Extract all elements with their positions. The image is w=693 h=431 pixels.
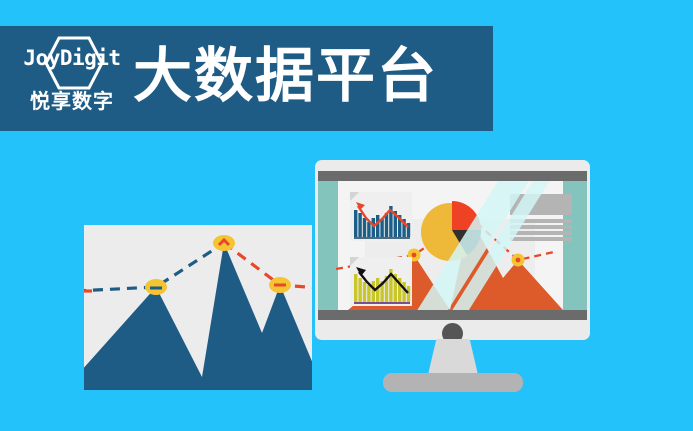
pie-chart [421, 201, 483, 263]
olive-bar-chart-svg [350, 257, 412, 306]
trend-arrow-icon [356, 202, 365, 210]
logo-wordmark: JoyDigit [16, 48, 128, 69]
page-title: 大数据平台 [133, 44, 438, 109]
olive-bar-chart-card [350, 257, 412, 306]
monitor-bottom-bezel-bar [318, 310, 587, 320]
mountain-chart-svg [84, 225, 312, 390]
text-block-panel [510, 194, 572, 238]
monitor-top-bezel-bar [318, 171, 587, 181]
monitor-stand-base [383, 373, 523, 392]
pie-slice-b [452, 201, 481, 230]
data-marker-core [412, 253, 417, 258]
card-fold-corner [350, 257, 359, 266]
doc-text-line [510, 231, 572, 235]
mountain-line-chart [84, 225, 312, 390]
doc-text-line [510, 225, 572, 229]
monitor-screen [318, 181, 587, 310]
doc-text-line [510, 237, 572, 241]
brand-logo: JoyDigit 悦享数字 [16, 34, 128, 124]
card-fold-corner [350, 192, 359, 201]
logo-subtitle: 悦享数字 [16, 92, 128, 112]
banner-root: JoyDigit 悦享数字 大数据平台 [0, 0, 693, 431]
mountain-shape-left [84, 243, 312, 390]
trend-arrow-icon [356, 267, 366, 276]
doc-text-line [510, 219, 572, 223]
monitor [315, 160, 590, 340]
data-marker-core [516, 258, 521, 263]
data-marker [213, 235, 235, 251]
doc-header-block [510, 194, 572, 215]
blue-bar-chart-svg [350, 192, 412, 241]
blue-bar-chart-card [350, 192, 412, 241]
